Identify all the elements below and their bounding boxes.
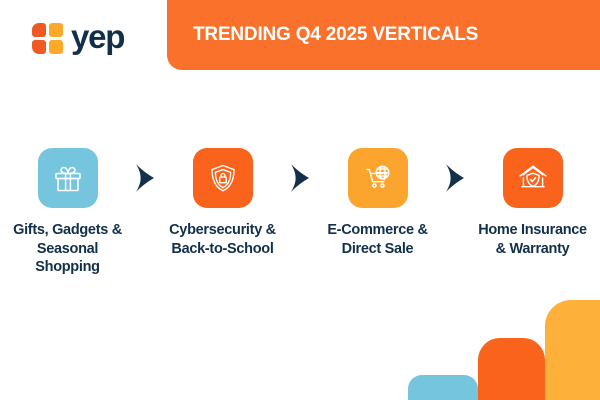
flow-step-home-insurance: Home Insurance & Warranty xyxy=(470,148,595,258)
logo-square-top-left xyxy=(32,23,46,37)
deco-bar-orange xyxy=(478,338,545,400)
flow-step-label: E-Commerce & Direct Sale xyxy=(319,221,437,258)
banner-title: TRENDING Q4 2025 VERTICALS xyxy=(167,24,478,46)
flow-arrow-2 xyxy=(285,148,315,208)
arrow-right-icon xyxy=(444,163,466,193)
flow-arrow-1 xyxy=(130,148,160,208)
gift-box-icon xyxy=(51,161,85,195)
shield-lock-icon xyxy=(206,161,240,195)
tile-ecommerce xyxy=(348,148,408,208)
logo-square-top-right xyxy=(49,23,63,37)
flow-step-label: Cybersecurity & Back-to-School xyxy=(164,221,282,258)
deco-bar-amber xyxy=(545,300,600,400)
infographic-canvas: yep TRENDING Q4 2025 VERTICALS Gifts, Ga… xyxy=(0,0,600,400)
tile-cybersecurity xyxy=(193,148,253,208)
banner: TRENDING Q4 2025 VERTICALS xyxy=(167,0,600,70)
deco-bar-blue xyxy=(408,375,478,400)
flow-step-ecommerce: E-Commerce & Direct Sale xyxy=(315,148,440,258)
arrow-right-icon xyxy=(289,163,311,193)
arrow-right-icon xyxy=(134,163,156,193)
logo-square-bottom-right xyxy=(49,40,63,54)
flow-step-label: Gifts, Gadgets & Seasonal Shopping xyxy=(9,221,127,277)
yep-logo-mark-icon xyxy=(32,23,63,54)
brand-name: yep xyxy=(71,20,124,56)
tile-gifts xyxy=(38,148,98,208)
brand-logo: yep xyxy=(32,20,124,56)
decorative-bars xyxy=(400,290,600,400)
flow-step-gifts: Gifts, Gadgets & Seasonal Shopping xyxy=(5,148,130,277)
house-shield-check-icon xyxy=(516,161,550,195)
flow-step-cybersecurity: Cybersecurity & Back-to-School xyxy=(160,148,285,258)
flow-arrow-3 xyxy=(440,148,470,208)
tile-home-insurance xyxy=(503,148,563,208)
shopping-cart-globe-icon xyxy=(361,161,395,195)
vertical-flow: Gifts, Gadgets & Seasonal Shopping Cyber… xyxy=(0,148,600,277)
logo-square-bottom-left xyxy=(32,40,46,54)
flow-step-label: Home Insurance & Warranty xyxy=(474,221,592,258)
